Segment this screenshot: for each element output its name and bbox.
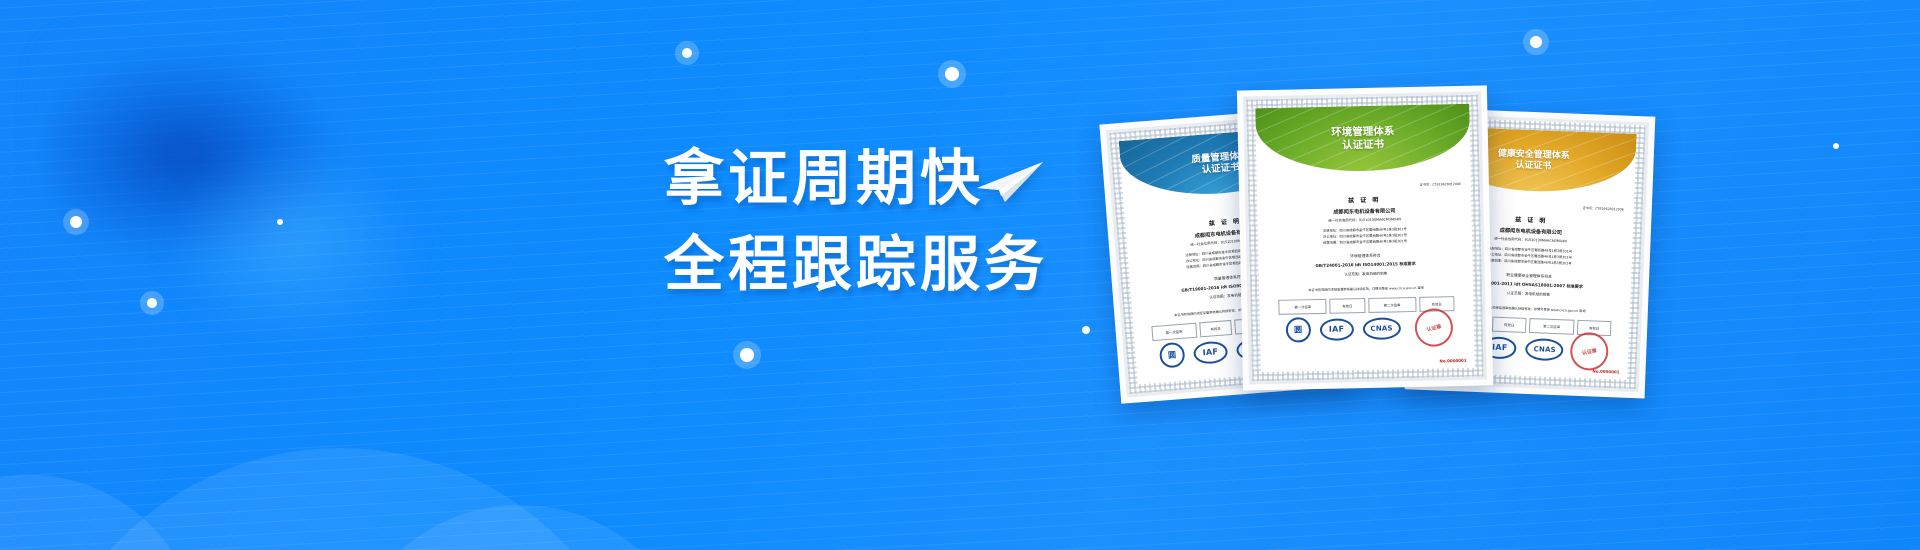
hero-banner: 拿证周期快 全程跟踪服务 质量管理体系认证证书证书号：CT61962801290… bbox=[0, 0, 1920, 550]
certificate-serial: No.0000001 bbox=[1592, 368, 1619, 374]
certificate-serial: No.0000001 bbox=[1439, 358, 1466, 364]
certificate-gallery: 质量管理体系认证证书证书号：CT619628012906兹 证 明成都闳东电机设… bbox=[1110, 70, 1900, 400]
certificate-accreditation-seals: 囻IAFCNAS bbox=[1285, 315, 1400, 342]
dot-7 bbox=[1082, 326, 1090, 334]
certificate-card-environmental-management[interactable]: 环境管理体系认证证书证书号：CT619628012906兹 证 明成都闳东电机设… bbox=[1237, 85, 1493, 390]
certificate-standard: GB/T24001-2016 idt ISO14001:2015 标准要求 bbox=[1259, 260, 1473, 270]
headline-line-2: 全程跟踪服务 bbox=[664, 222, 1134, 308]
surveillance-cell: 有效日 bbox=[1492, 317, 1526, 333]
radial-glow-dark bbox=[45, 35, 375, 285]
certificate-number: 证书号：CT619628012906 bbox=[1582, 205, 1623, 212]
certificate-number: 证书号：CT619628012906 bbox=[1420, 181, 1461, 187]
certificate-body: 环境管理体系认证证书证书号：CT619628012906兹 证 明成都闳东电机设… bbox=[1255, 104, 1474, 372]
cnas-seal-icon: CNAS bbox=[1362, 317, 1400, 340]
certificate-subtitle: 认证证书 bbox=[1515, 160, 1551, 172]
headline-line-1: 拿证周期快 bbox=[664, 136, 1134, 222]
red-official-stamp-icon: 认证章 bbox=[1567, 329, 1611, 373]
dot-4 bbox=[682, 48, 692, 58]
certificate-subtitle: 认证证书 bbox=[1342, 138, 1384, 151]
paper-plane-icon bbox=[975, 158, 1045, 206]
dot-3 bbox=[147, 298, 157, 308]
surveillance-cell: 第一次监审 bbox=[1279, 299, 1328, 315]
certificate-border: 环境管理体系认证证书证书号：CT619628012906兹 证 明成都闳东电机设… bbox=[1243, 92, 1487, 385]
decor-circle-1 bbox=[0, 475, 200, 550]
dot-5 bbox=[945, 67, 959, 81]
dot-1 bbox=[277, 219, 283, 225]
dot-6 bbox=[740, 348, 754, 362]
dot-8 bbox=[1530, 36, 1542, 48]
iaf-seal-icon: IAF bbox=[1319, 318, 1353, 341]
cnca-seal-icon: 囻 bbox=[1159, 342, 1186, 369]
certificate-scope-note: 认证范围：发电机组的销售 bbox=[1259, 270, 1473, 279]
radial-glow-light bbox=[170, 150, 420, 340]
headline-block: 拿证周期快 全程跟踪服务 bbox=[664, 136, 1134, 308]
certificate-type-title: 环境管理体系 bbox=[1331, 125, 1394, 139]
certificate-attest-title: 兹 证 明 bbox=[1257, 193, 1471, 206]
dot-2 bbox=[70, 216, 82, 228]
certificate-footer-note: 本证书有效期内须经监督审核确认持续有效，详情可登录 www.cnca.gov.c… bbox=[1259, 284, 1473, 293]
surveillance-cell: 第二次监审 bbox=[1368, 297, 1417, 313]
surveillance-cell: 第一次监审 bbox=[1151, 323, 1197, 341]
decor-circle-3 bbox=[340, 505, 700, 550]
iaf-seal-icon: IAF bbox=[1193, 340, 1229, 365]
cnca-seal-icon: 囻 bbox=[1285, 317, 1311, 343]
surveillance-cell: 有效日 bbox=[1199, 320, 1233, 338]
surveillance-cell: 有效日 bbox=[1330, 298, 1365, 314]
surveillance-cell: 第二次监审 bbox=[1528, 318, 1574, 335]
cnas-seal-icon: CNAS bbox=[1525, 337, 1564, 360]
certificate-header-banner: 环境管理体系认证证书 bbox=[1255, 104, 1470, 173]
decor-circle-2 bbox=[30, 448, 650, 550]
